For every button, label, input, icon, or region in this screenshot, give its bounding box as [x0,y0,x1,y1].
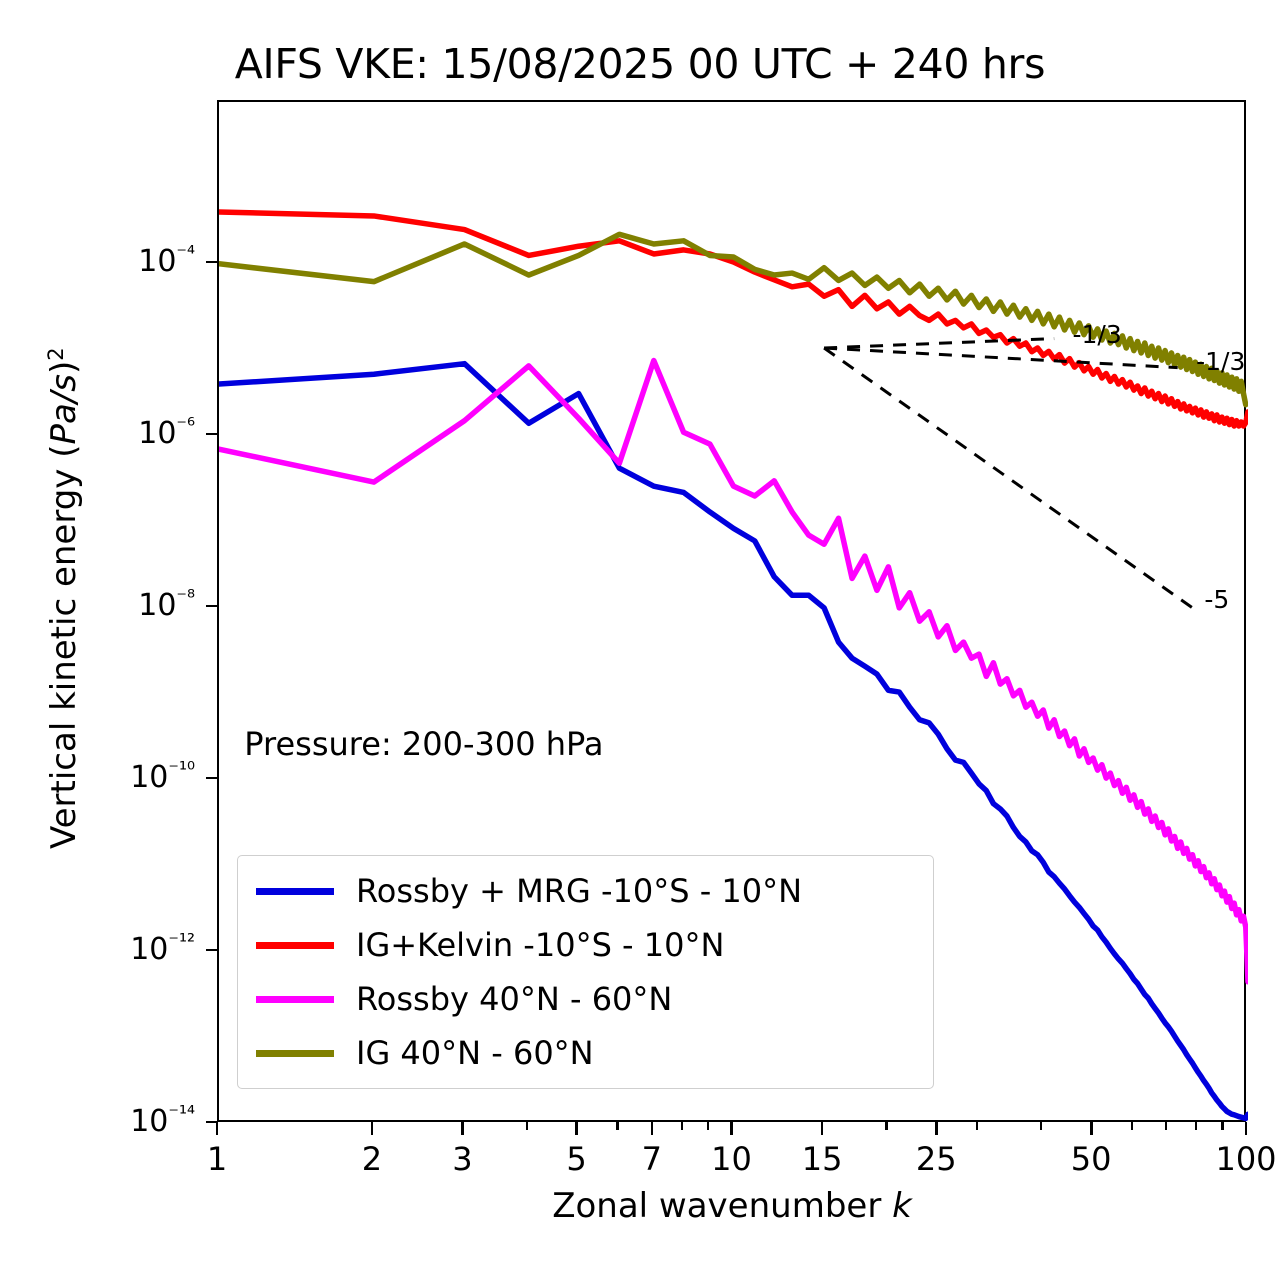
y-tick-mark [206,777,217,779]
legend-color-swatch [256,942,334,949]
y-tick-mark [206,949,217,951]
x-tick-mark [730,1122,733,1135]
legend-item-label: Rossby + MRG -10°S - 10°N [356,875,802,907]
y-tick-label: 10⁻¹⁴ [0,1101,195,1139]
pressure-annotation: Pressure: 200-300 hPa [244,725,603,763]
x-tick-mark [821,1122,824,1135]
x-tick-label: 15 [762,1140,882,1178]
x-minor-tick-mark [1040,1122,1042,1130]
x-tick-mark [371,1122,374,1135]
x-minor-tick-mark [616,1122,618,1130]
x-minor-tick-mark [707,1122,709,1130]
x-minor-tick-mark [885,1122,887,1130]
x-minor-tick-mark [976,1122,978,1130]
reference-line [824,348,1178,368]
x-minor-tick-mark [1195,1122,1197,1130]
slope-label: -5 [1204,585,1229,614]
legend-item-label: IG 40°N - 60°N [356,1037,594,1069]
legend-color-swatch [256,996,334,1003]
x-tick-mark [651,1122,654,1135]
x-tick-label: 1 [157,1140,277,1178]
y-tick-label: 10⁻⁶ [0,413,195,451]
x-tick-mark [575,1122,578,1135]
legend-item-label: IG+Kelvin -10°S - 10°N [356,929,724,961]
y-tick-label: 10⁻⁴ [0,241,195,279]
y-tick-mark [206,261,217,263]
legend-item[interactable]: Rossby 40°N - 60°N [238,972,933,1026]
y-tick-label: 10⁻⁸ [0,585,195,623]
x-tick-mark [1090,1122,1093,1135]
legend-item[interactable]: IG+Kelvin -10°S - 10°N [238,918,933,972]
y-tick-mark [206,433,217,435]
chart-figure: AIFS VKE: 15/08/2025 00 UTC + 240 hrs Ve… [0,0,1280,1288]
x-minor-tick-mark [681,1122,683,1130]
x-tick-label: 50 [1031,1140,1151,1178]
y-tick-mark [206,605,217,607]
y-tick-label: 10⁻¹² [0,929,195,967]
chart-legend: Rossby + MRG -10°S - 10°NIG+Kelvin -10°S… [237,855,934,1089]
x-axis-label: Zonal wavenumber k [217,1186,1247,1226]
x-minor-tick-mark [1221,1122,1223,1130]
legend-item-label: Rossby 40°N - 60°N [356,983,672,1015]
legend-item[interactable]: Rossby + MRG -10°S - 10°N [238,864,933,918]
x-minor-tick-mark [526,1122,528,1130]
legend-item[interactable]: IG 40°N - 60°N [238,1026,933,1080]
x-minor-tick-mark [1165,1122,1167,1130]
x-tick-label: 100 [1186,1140,1280,1178]
legend-color-swatch [256,1050,334,1057]
slope-label: -1/3 [1072,320,1121,349]
x-minor-tick-mark [1131,1122,1133,1130]
x-tick-mark [461,1122,464,1135]
x-tick-mark [1245,1122,1248,1135]
x-tick-label: 3 [402,1140,522,1178]
y-tick-label: 10⁻¹⁰ [0,757,195,795]
x-tick-mark [216,1122,219,1135]
x-tick-label: 25 [876,1140,996,1178]
legend-color-swatch [256,888,334,895]
chart-title: AIFS VKE: 15/08/2025 00 UTC + 240 hrs [0,40,1280,88]
slope-label: -1/3 [1196,347,1245,376]
x-tick-mark [935,1122,938,1135]
